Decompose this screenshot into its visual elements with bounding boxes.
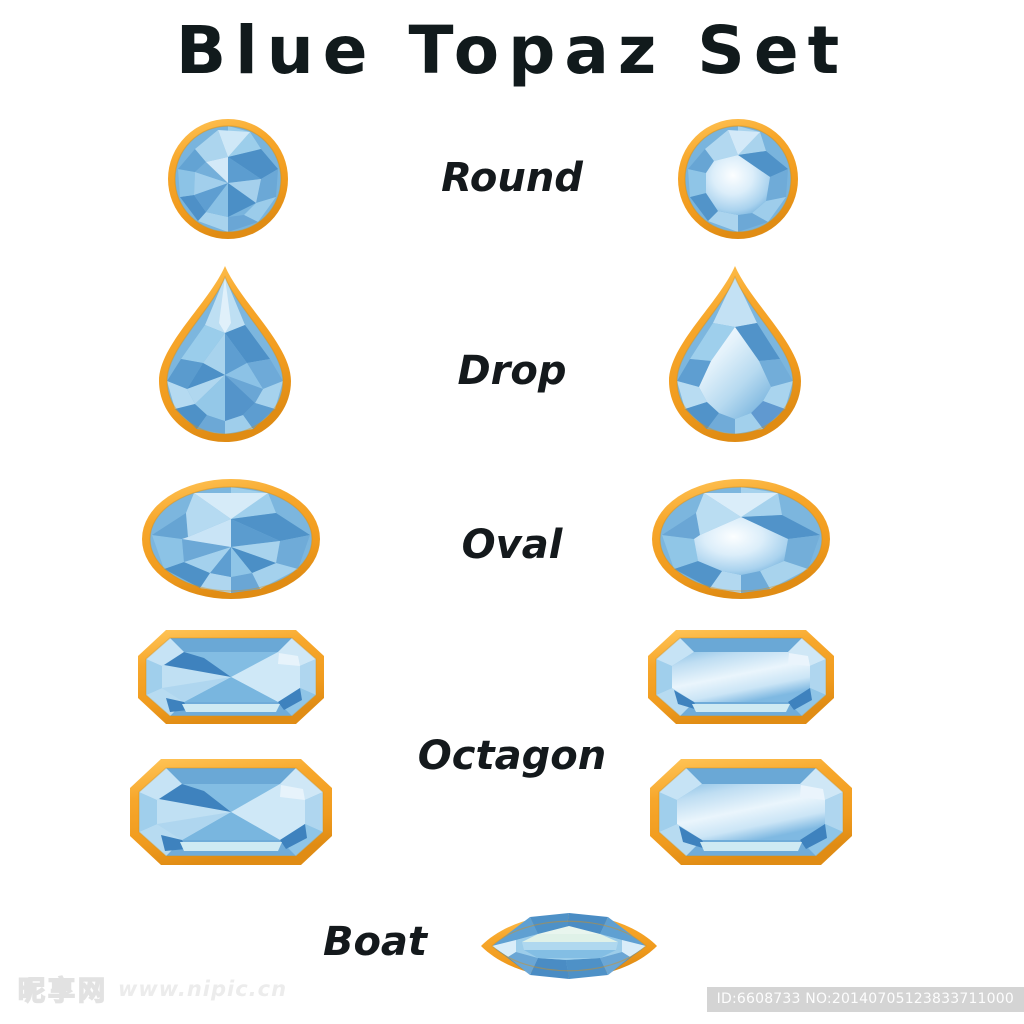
- watermark-site: 昵享网 www.nipic.cn: [18, 969, 287, 1008]
- row-label-drop: Drop: [362, 348, 662, 394]
- row-label-oval: Oval: [362, 522, 662, 568]
- page-title: Blue Topaz Set: [0, 12, 1024, 89]
- gem-boat-faceted[interactable]: [478, 900, 660, 992]
- gem-drop-faceted[interactable]: [155, 263, 295, 445]
- row-label-boat: Boat: [275, 919, 475, 965]
- gem-octagon-table-large[interactable]: [648, 757, 854, 867]
- row-label-octagon: Octagon: [362, 733, 662, 779]
- gem-octagon-table-small[interactable]: [646, 628, 836, 726]
- gem-octagon-faceted-small[interactable]: [136, 628, 326, 726]
- gem-octagon-faceted-large[interactable]: [128, 757, 334, 867]
- watermark-id-badge: ID:6608733 NO:20140705123833711000: [707, 987, 1024, 1012]
- gem-round-table[interactable]: [676, 117, 800, 241]
- watermark-site-name: 昵享网: [18, 969, 108, 1008]
- row-label-round: Round: [362, 155, 662, 201]
- gem-oval-faceted[interactable]: [140, 477, 322, 601]
- gem-round-faceted[interactable]: [166, 117, 290, 241]
- illustration-canvas: Blue Topaz Set Round Drop Oval Octagon B…: [0, 0, 1024, 1024]
- gem-oval-table[interactable]: [650, 477, 832, 601]
- watermark-site-url: www.nipic.cn: [118, 977, 287, 1001]
- gem-drop-table[interactable]: [665, 263, 805, 445]
